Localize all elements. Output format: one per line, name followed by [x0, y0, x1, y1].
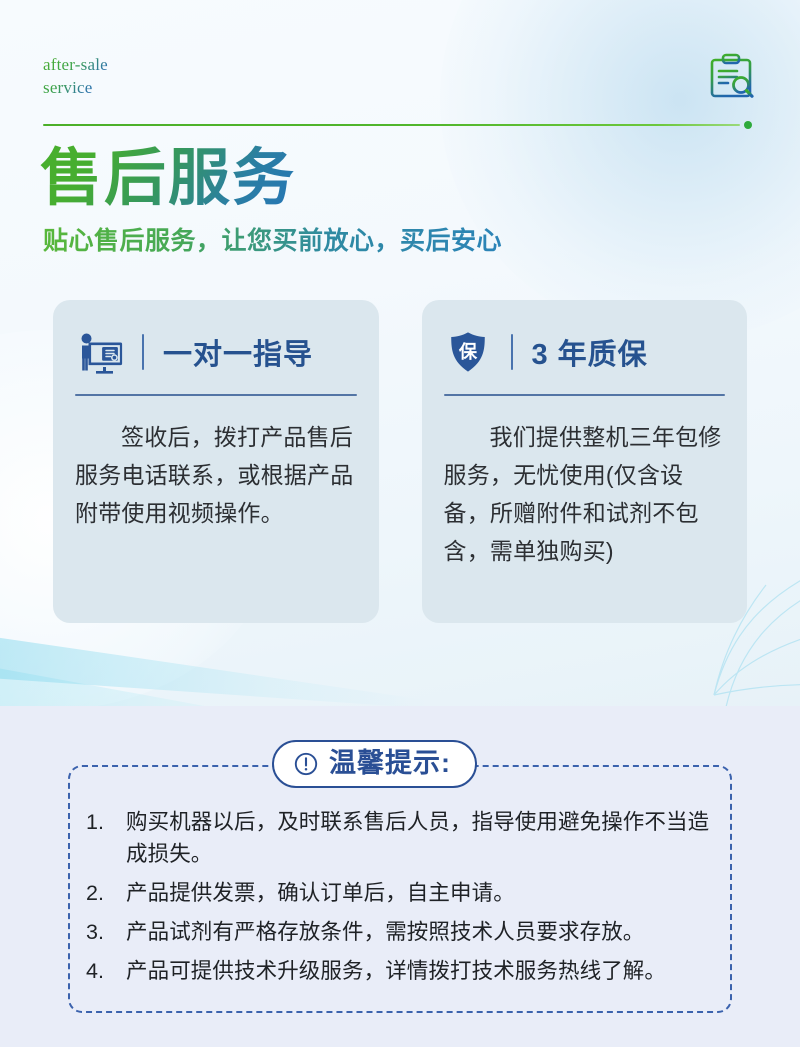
- list-item-number: 3.: [86, 916, 118, 948]
- list-item-text: 产品试剂有严格存放条件，需按照技术人员要求存放。: [126, 920, 644, 944]
- header-divider-dot: [744, 121, 752, 129]
- page-subtitle: 贴心售后服务，让您买前放心，买后安心: [43, 224, 502, 258]
- card-separator: [142, 334, 144, 370]
- notice-item-list: 1. 购买机器以后，及时联系售后人员，指导使用避免操作不当造成损失。 2. 产品…: [86, 806, 724, 994]
- card-body-text: 我们提供整机三年包修服务，无忧使用(仅含设备，所赠附件和试剂不包含，需单独购买): [444, 418, 726, 570]
- list-item: 4. 产品可提供技术升级服务，详情拨打技术服务热线了解。: [86, 955, 724, 987]
- card-title: 3 年质保: [532, 331, 648, 373]
- presenter-board-icon: [75, 328, 123, 376]
- list-item-text: 购买机器以后，及时联系售后人员，指导使用避免操作不当造成损失。: [126, 810, 709, 866]
- card-underline: [75, 394, 357, 396]
- card-underline: [444, 394, 726, 396]
- list-item: 3. 产品试剂有严格存放条件，需按照技术人员要求存放。: [86, 916, 724, 948]
- list-item-number: 4.: [86, 955, 118, 987]
- header-divider-line: [43, 124, 740, 126]
- exclamation-circle-icon: [294, 752, 318, 776]
- list-item: 1. 购买机器以后，及时联系售后人员，指导使用避免操作不当造成损失。: [86, 806, 724, 870]
- header-eyebrow: after-sale service: [43, 53, 108, 99]
- feature-card-list: 一对一指导 签收后，拨打产品售后服务电话联系，或根据产品附带使用视频操作。 保 …: [53, 300, 747, 623]
- feature-card-warranty: 保 3 年质保 我们提供整机三年包修服务，无忧使用(仅含设备，所赠附件和试剂不包…: [422, 300, 748, 623]
- card-body-text: 签收后，拨打产品售后服务电话联系，或根据产品附带使用视频操作。: [75, 418, 357, 532]
- notice-badge-label: 温馨提示:: [329, 750, 451, 777]
- card-header: 一对一指导: [75, 324, 357, 380]
- shield-icon-glyph: 保: [457, 341, 477, 362]
- list-item: 2. 产品提供发票，确认订单后，自主申请。: [86, 877, 724, 909]
- list-item-text: 产品可提供技术升级服务，详情拨打技术服务热线了解。: [126, 959, 666, 983]
- list-item-number: 2.: [86, 877, 118, 909]
- list-item-text: 产品提供发票，确认订单后，自主申请。: [126, 881, 515, 905]
- feature-card-one-on-one: 一对一指导 签收后，拨打产品售后服务电话联系，或根据产品附带使用视频操作。: [53, 300, 379, 623]
- list-item-number: 1.: [86, 806, 118, 838]
- card-separator: [511, 334, 513, 370]
- card-title: 一对一指导: [163, 331, 313, 373]
- clipboard-search-icon: [708, 52, 754, 104]
- page-root: after-sale service 售后服务 贴心售后服务，让您买前放心，买后…: [0, 0, 800, 1047]
- card-header: 保 3 年质保: [444, 324, 726, 380]
- page-title: 售后服务: [40, 140, 296, 218]
- shield-warranty-icon: 保: [444, 328, 492, 376]
- notice-badge: 温馨提示:: [272, 740, 477, 788]
